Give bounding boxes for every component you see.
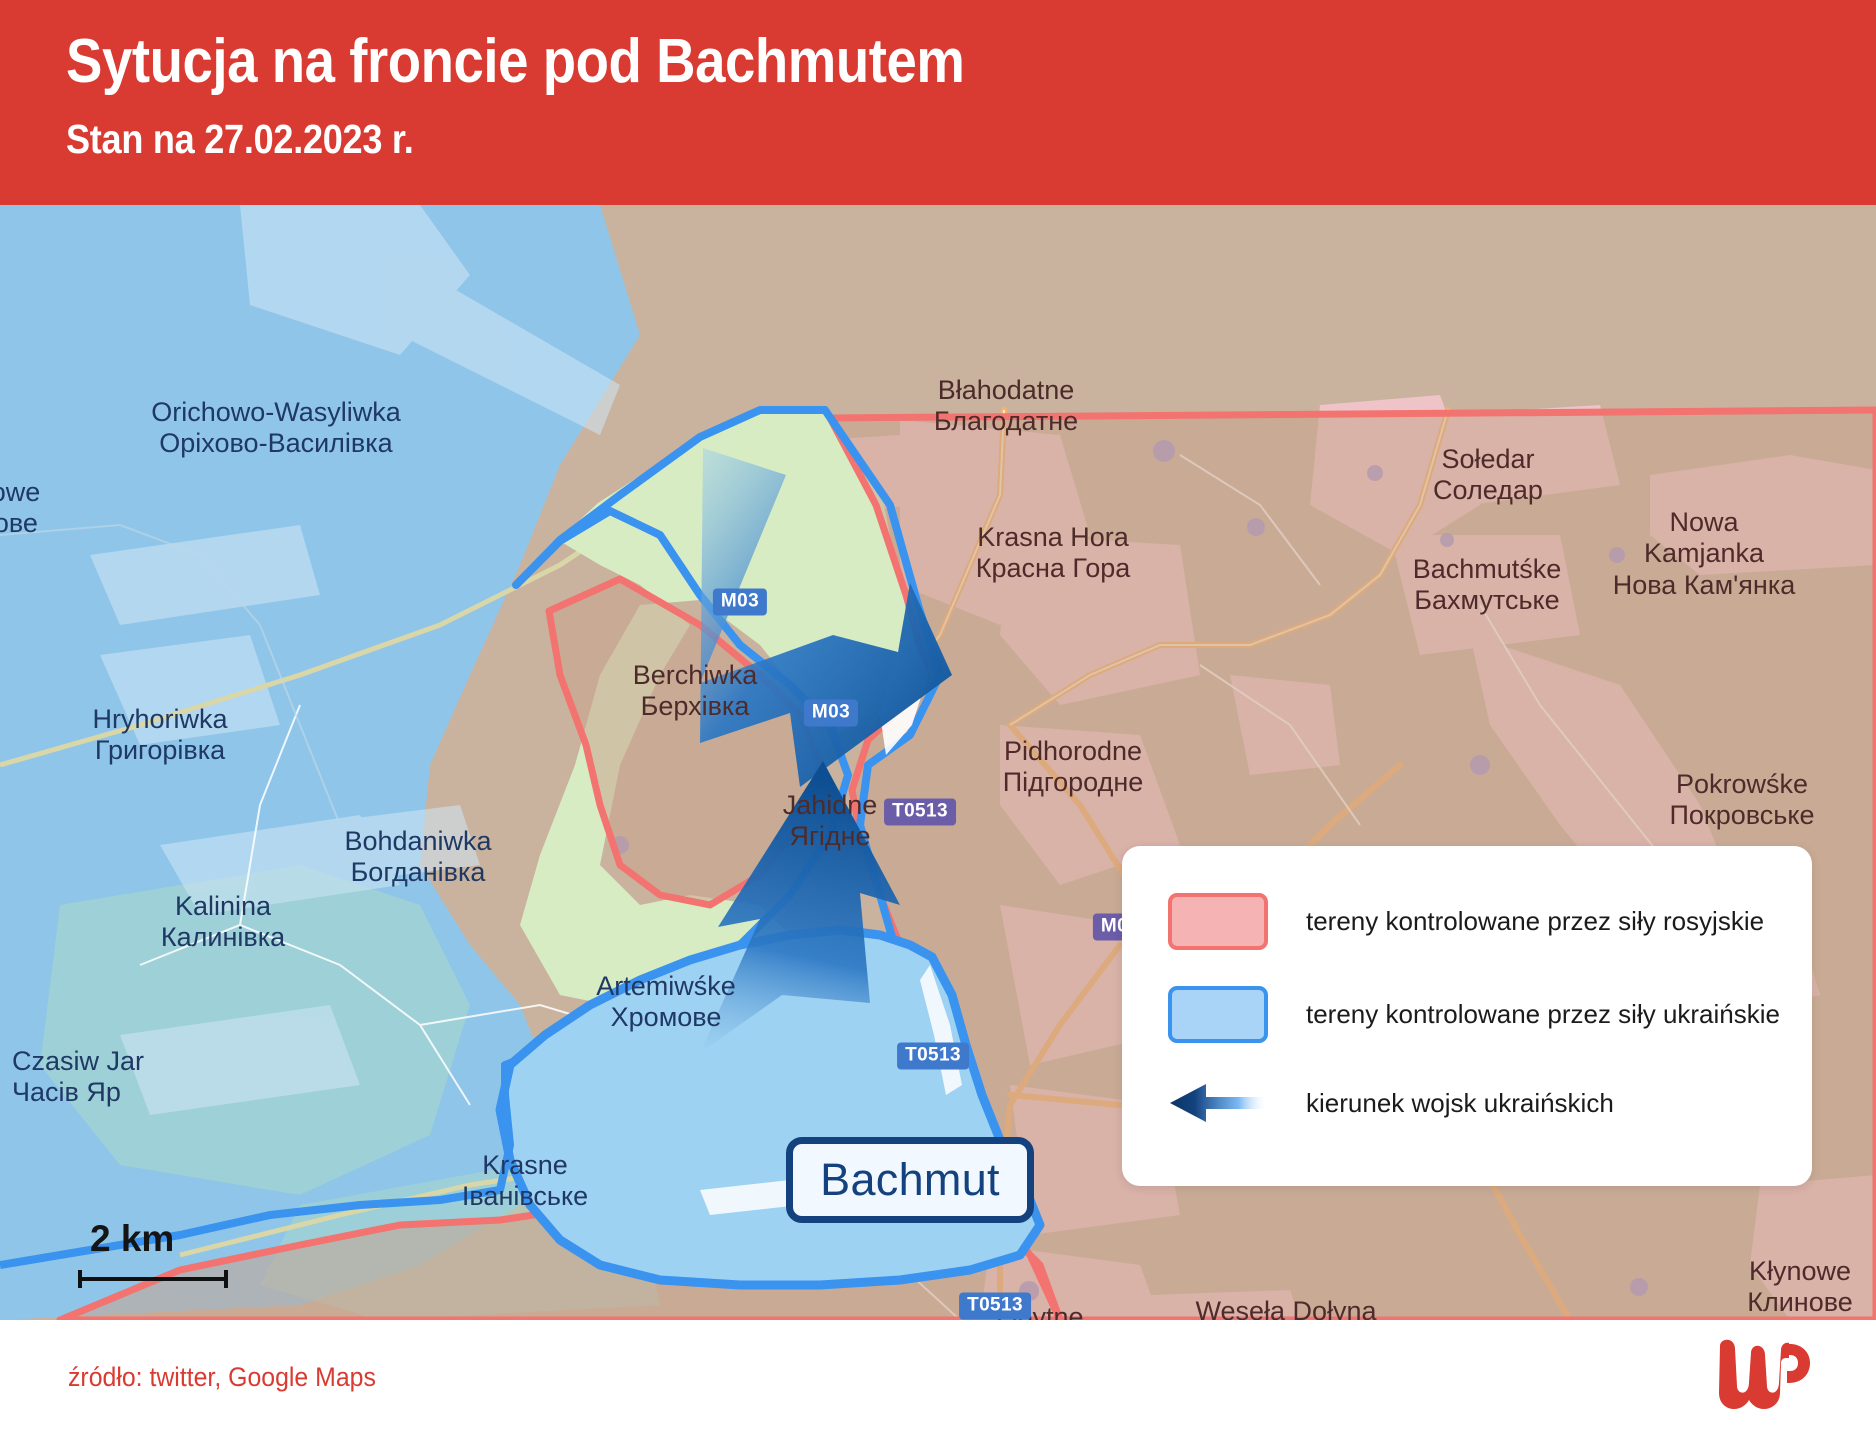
road-shield-t0513-s[interactable]: T0513 — [959, 1293, 1031, 1320]
city-callout-label: Bachmut — [820, 1154, 1000, 1206]
city-callout-bachmut[interactable]: Bachmut — [786, 1137, 1034, 1223]
road-shield-t0513-n[interactable]: T0513 — [884, 799, 956, 826]
legend-label-russian: tereny kontrolowane przez siły rosyjskie — [1306, 906, 1764, 937]
scale-cap-left — [78, 1270, 82, 1288]
header-bar: Sytucja na froncie pod Bachmutem Stan na… — [0, 0, 1876, 205]
page-subtitle: Stan na 27.02.2023 r. — [66, 116, 413, 163]
scale-rule-line — [78, 1277, 228, 1281]
legend-label-direction: kierunek wojsk ukraińskich — [1306, 1088, 1614, 1119]
legend-arrow-left-icon — [1168, 1081, 1268, 1125]
legend-panel: tereny kontrolowane przez siły rosyjskie… — [1122, 846, 1812, 1186]
legend-item-direction: kierunek wojsk ukraińskich — [1168, 1081, 1614, 1125]
infographic-root: Sytucja na froncie pod Bachmutem Stan na… — [0, 0, 1876, 1440]
legend-swatch-russian-icon — [1168, 893, 1268, 950]
wp-logo-icon — [1710, 1338, 1818, 1412]
scale-bar: 2 km — [70, 1218, 228, 1286]
legend-item-russian: tereny kontrolowane przez siły rosyjskie — [1168, 893, 1764, 950]
scale-label: 2 km — [90, 1218, 228, 1260]
scale-bar-rule — [78, 1270, 228, 1286]
scale-cap-right — [224, 1270, 228, 1288]
road-shield-m03-nw[interactable]: M03 — [713, 589, 767, 616]
legend-swatch-ukrainian-icon — [1168, 986, 1268, 1043]
source-credit: źródło: twitter, Google Maps — [68, 1362, 376, 1393]
road-shield-m03-mid[interactable]: M03 — [804, 700, 858, 727]
footer-bar: źródło: twitter, Google Maps — [0, 1320, 1876, 1440]
legend-label-ukrainian: tereny kontrolowane przez siły ukraiński… — [1306, 999, 1780, 1030]
legend-item-ukrainian: tereny kontrolowane przez siły ukraiński… — [1168, 986, 1780, 1043]
road-shield-t0513-city[interactable]: T0513 — [897, 1043, 969, 1070]
page-title: Sytucja na froncie pod Bachmutem — [66, 26, 964, 97]
